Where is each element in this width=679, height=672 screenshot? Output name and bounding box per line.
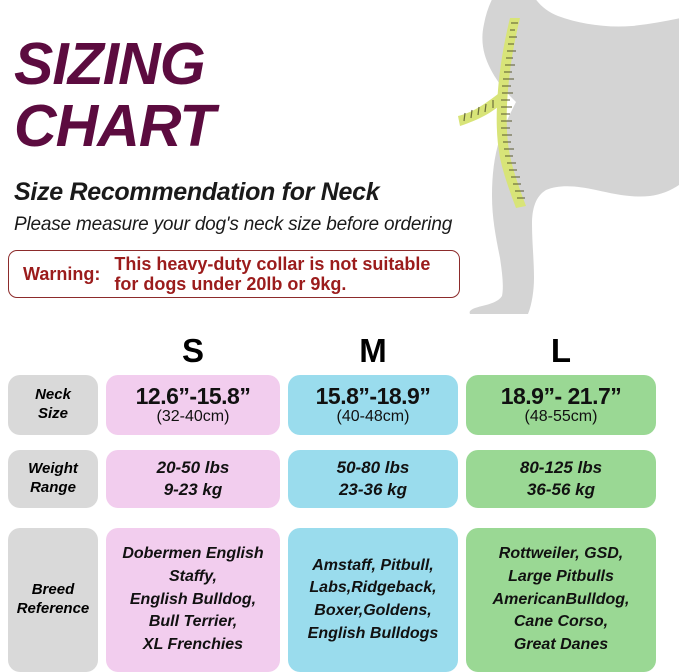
sizing-chart-page: SIZING CHART Size Recommendation for Nec…: [0, 0, 679, 672]
neck-size-large-inches: 18.9”- 21.7”: [501, 384, 622, 408]
neck-size-small-cell: 12.6”-15.8” (32-40cm): [106, 375, 280, 435]
neck-size-small-inches: 12.6”-15.8”: [136, 384, 251, 408]
warning-message: This heavy-duty collar is not suitable f…: [114, 254, 430, 294]
warning-line-1: This heavy-duty collar is not suitable: [114, 254, 430, 274]
weight-range-medium-cell: 50-80 lbs 23-36 kg: [288, 450, 458, 508]
warning-box: Warning: This heavy-duty collar is not s…: [8, 250, 460, 298]
breed-medium-line-4: English Bulldogs: [308, 623, 439, 646]
row-label-breed-line-2: Reference: [17, 600, 90, 619]
breed-medium-line-1: Amstaff, Pitbull,: [308, 555, 439, 578]
breed-small-line-5: XL Frenchies: [122, 634, 263, 657]
weight-range-large-lbs: 80-125 lbs: [520, 457, 602, 479]
title-line-sizing: SIZING: [14, 36, 484, 94]
page-title: SIZING CHART: [14, 36, 484, 156]
size-header-small: S: [106, 332, 280, 370]
weight-range-medium-lbs: 50-80 lbs: [337, 457, 410, 479]
row-label-neck-line-1: Neck: [35, 386, 71, 405]
row-label-breed-reference: Breed Reference: [8, 528, 98, 672]
weight-range-large-cell: 80-125 lbs 36-56 kg: [466, 450, 656, 508]
breed-large-line-5: Great Danes: [493, 634, 630, 657]
weight-range-small-kg: 9-23 kg: [157, 479, 230, 501]
instruction-text: Please measure your dog's neck size befo…: [14, 214, 452, 236]
row-label-neck-line-2: Size: [35, 405, 71, 424]
weight-range-large-kg: 36-56 kg: [520, 479, 602, 501]
row-label-weight-range: Weight Range: [8, 450, 98, 508]
neck-size-medium-cm: (40-48cm): [316, 409, 431, 426]
neck-size-medium-cell: 15.8”-18.9” (40-48cm): [288, 375, 458, 435]
breed-large-line-1: Rottweiler, GSD,: [493, 543, 630, 566]
dog-body-shape: [470, 0, 679, 314]
neck-size-large-cm: (48-55cm): [501, 409, 622, 426]
subtitle: Size Recommendation for Neck: [14, 178, 379, 207]
neck-size-large-cell: 18.9”- 21.7” (48-55cm): [466, 375, 656, 435]
weight-range-small-cell: 20-50 lbs 9-23 kg: [106, 450, 280, 508]
neck-size-medium-inches: 15.8”-18.9”: [316, 384, 431, 408]
row-label-neck-size: Neck Size: [8, 375, 98, 435]
size-header-medium: M: [288, 332, 458, 370]
breed-large-line-3: AmericanBulldog,: [493, 589, 630, 612]
breed-reference-large-cell: Rottweiler, GSD, Large Pitbulls American…: [466, 528, 656, 672]
breed-small-line-4: Bull Terrier,: [122, 611, 263, 634]
row-label-weight-line-1: Weight: [28, 460, 78, 479]
weight-range-medium-kg: 23-36 kg: [337, 479, 410, 501]
row-label-weight-line-2: Range: [28, 479, 78, 498]
breed-small-line-2: Staffy,: [122, 566, 263, 589]
breed-medium-line-3: Boxer,Goldens,: [308, 600, 439, 623]
breed-large-line-4: Cane Corso,: [493, 611, 630, 634]
weight-range-small-lbs: 20-50 lbs: [157, 457, 230, 479]
title-line-chart: CHART: [14, 98, 484, 156]
breed-large-line-2: Large Pitbulls: [493, 566, 630, 589]
breed-small-line-3: English Bulldog,: [122, 589, 263, 612]
warning-line-2: for dogs under 20lb or 9kg.: [114, 274, 430, 294]
breed-reference-medium-cell: Amstaff, Pitbull, Labs,Ridgeback, Boxer,…: [288, 528, 458, 672]
breed-small-line-1: Dobermen English: [122, 543, 263, 566]
breed-reference-small-cell: Dobermen English Staffy, English Bulldog…: [106, 528, 280, 672]
neck-size-small-cm: (32-40cm): [136, 409, 251, 426]
warning-label: Warning:: [23, 264, 100, 285]
row-label-breed-line-1: Breed: [17, 581, 90, 600]
breed-medium-line-2: Labs,Ridgeback,: [308, 577, 439, 600]
size-header-large: L: [466, 332, 656, 370]
